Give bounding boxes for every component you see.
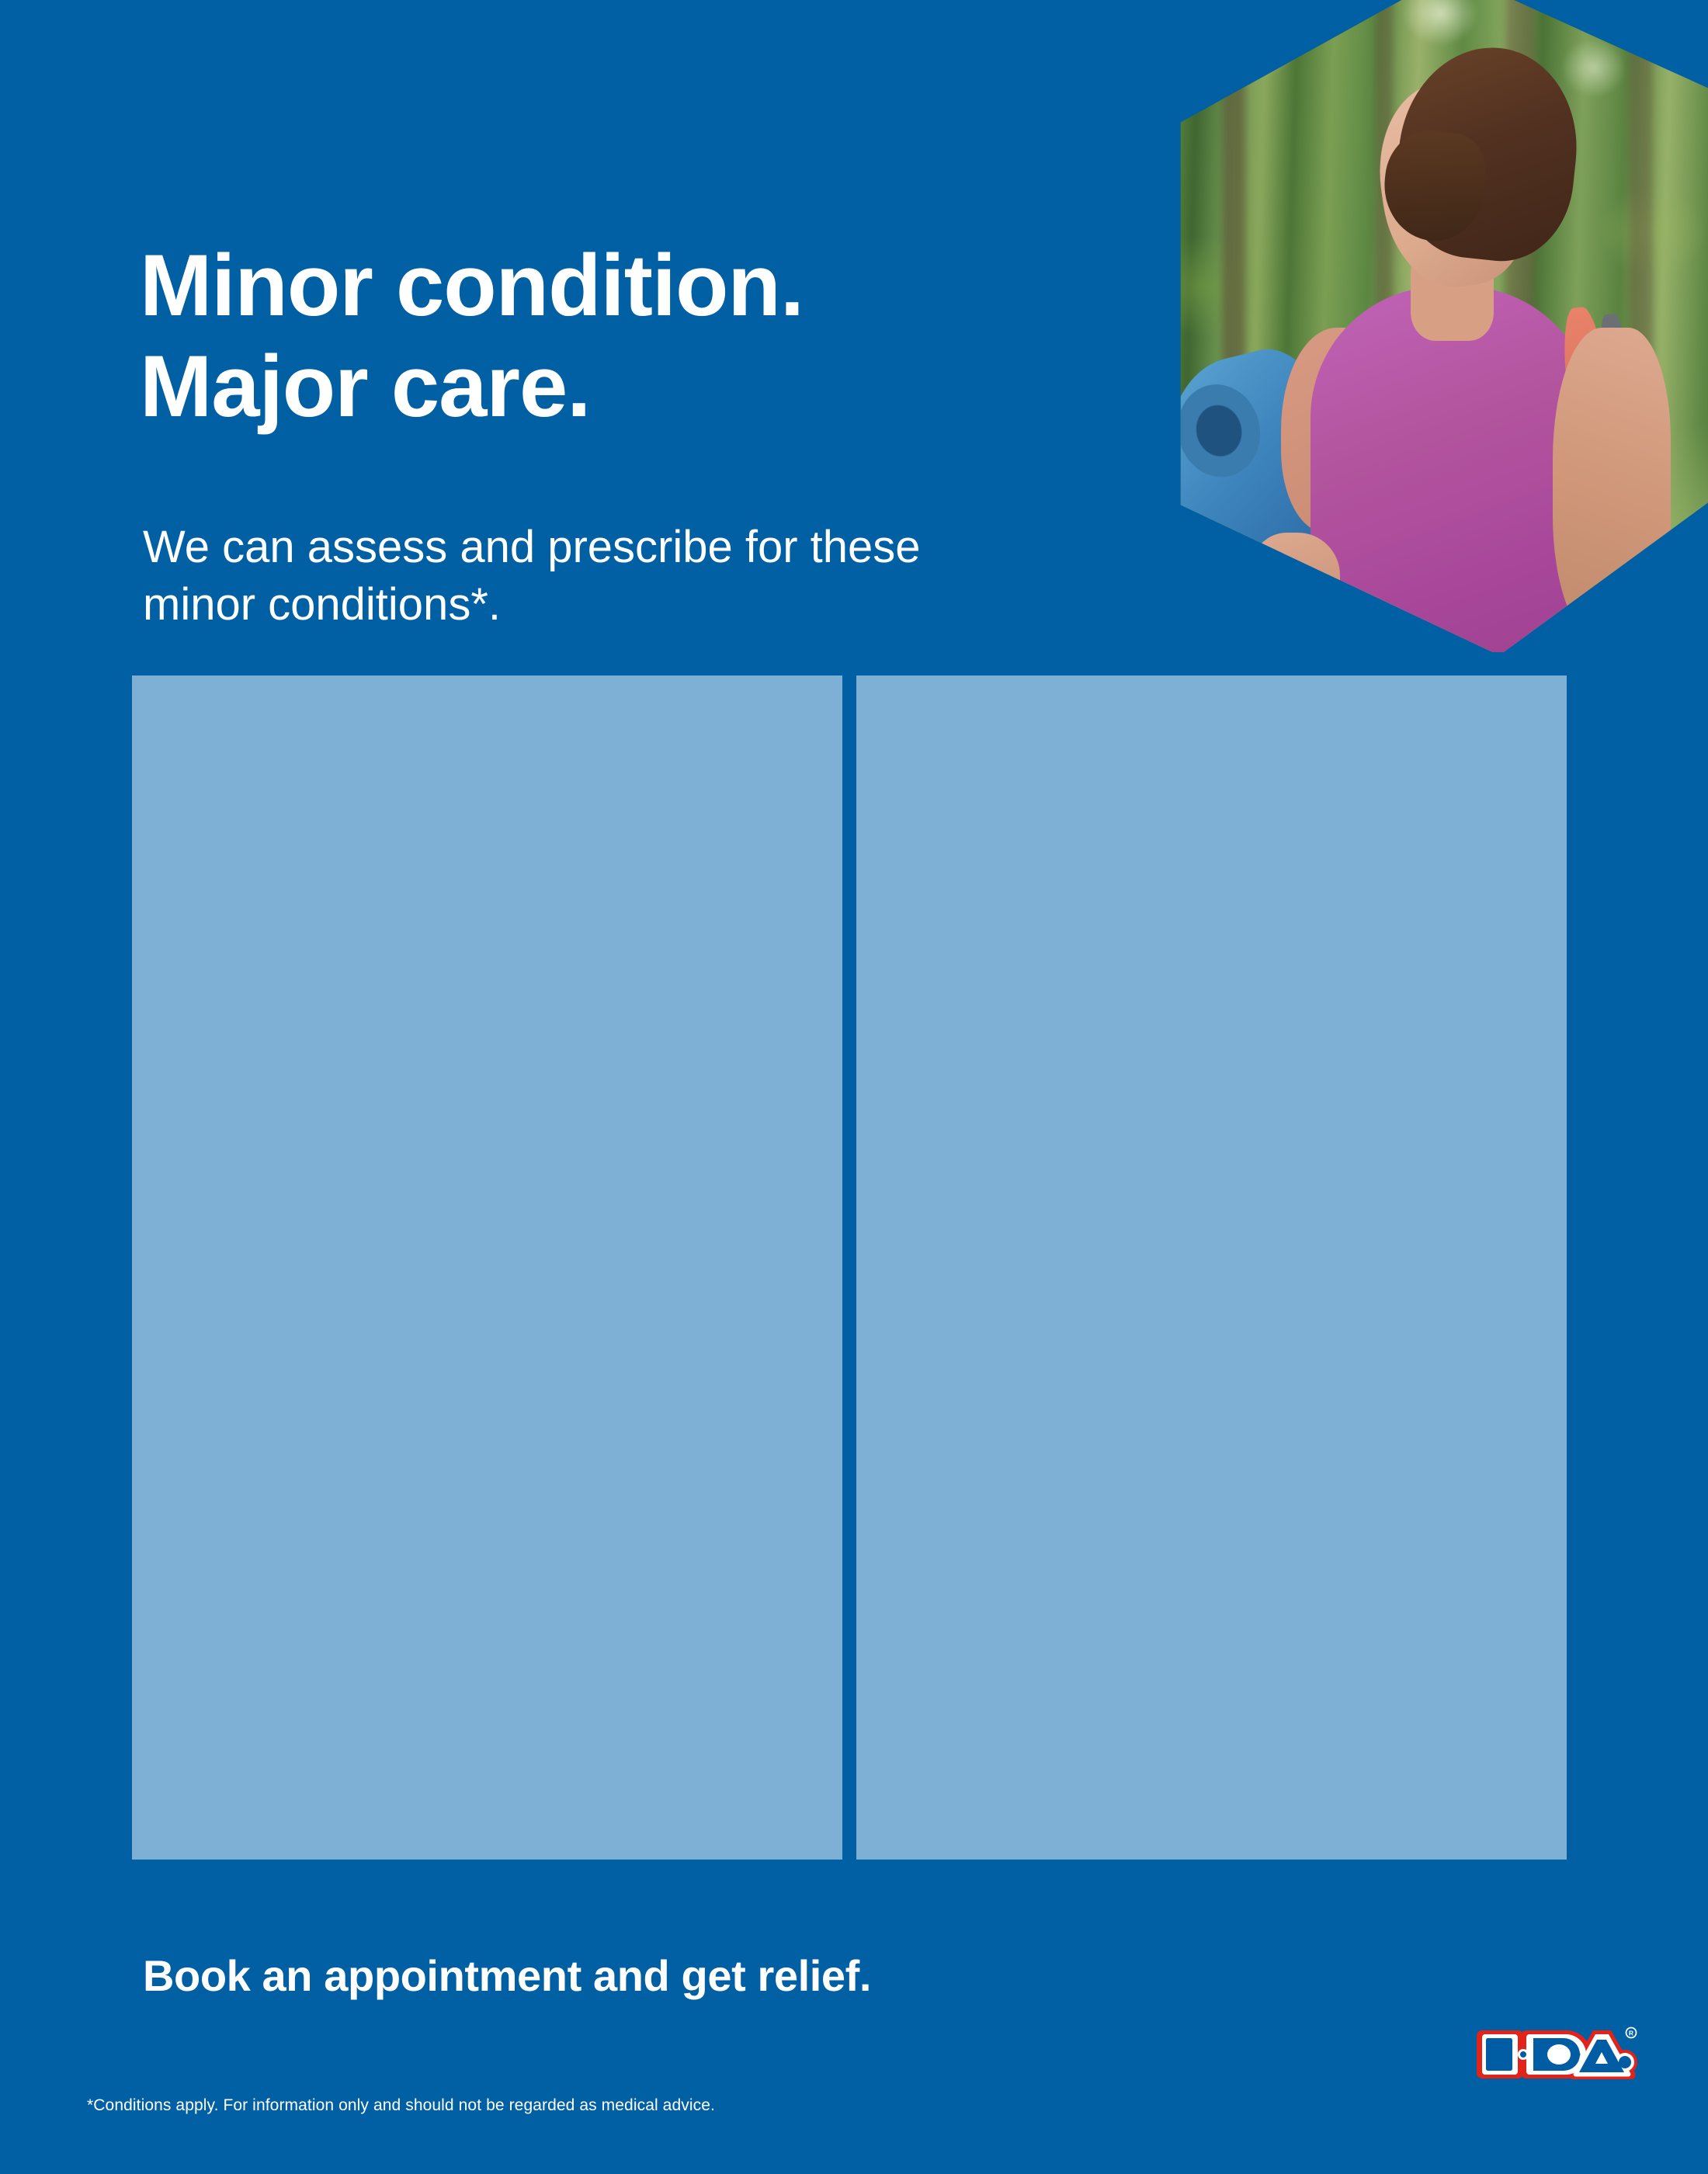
- subheading: We can assess and prescribe for these mi…: [143, 519, 1074, 634]
- smile: [1397, 180, 1442, 215]
- backpack-strap-right: [1558, 305, 1624, 514]
- yoga-mat: [1138, 337, 1376, 645]
- conditions-panel-left: [132, 675, 842, 1860]
- torso-tank-top: [1311, 287, 1594, 652]
- hero-photo-hexagon-mask: [1133, 0, 1708, 652]
- footnote-disclaimer: *Conditions apply. For information only …: [87, 2096, 715, 2115]
- forest-ground: [1133, 423, 1708, 652]
- neck: [1411, 245, 1493, 341]
- hair: [1388, 39, 1586, 268]
- conditions-panel-right: [856, 675, 1567, 1860]
- woman-figure: [1133, 0, 1708, 652]
- svg-text:R: R: [1629, 2030, 1633, 2037]
- arm-right: [1553, 328, 1671, 642]
- poster-canvas: Minor condition. Major care. We can asse…: [0, 0, 1708, 2174]
- backpack-strap-left: [1357, 312, 1418, 480]
- forest-trunks: [1133, 0, 1708, 652]
- backpack-strap-grey: [1595, 313, 1645, 547]
- head: [1368, 72, 1543, 296]
- call-to-action-text: Book an appointment and get relief.: [143, 1950, 871, 2001]
- conditions-panel-group: [132, 675, 1567, 1860]
- ida-logo: R: [1477, 2019, 1640, 2090]
- shoulder-left: [1281, 328, 1393, 533]
- ida-logo-mark: R: [1477, 2019, 1640, 2090]
- hero-image: [1110, 0, 1708, 652]
- page-title: Minor condition. Major care.: [140, 235, 1056, 437]
- registered-trademark-icon: R: [1626, 2028, 1637, 2038]
- forest-background: [1133, 0, 1708, 652]
- hand: [1251, 533, 1340, 621]
